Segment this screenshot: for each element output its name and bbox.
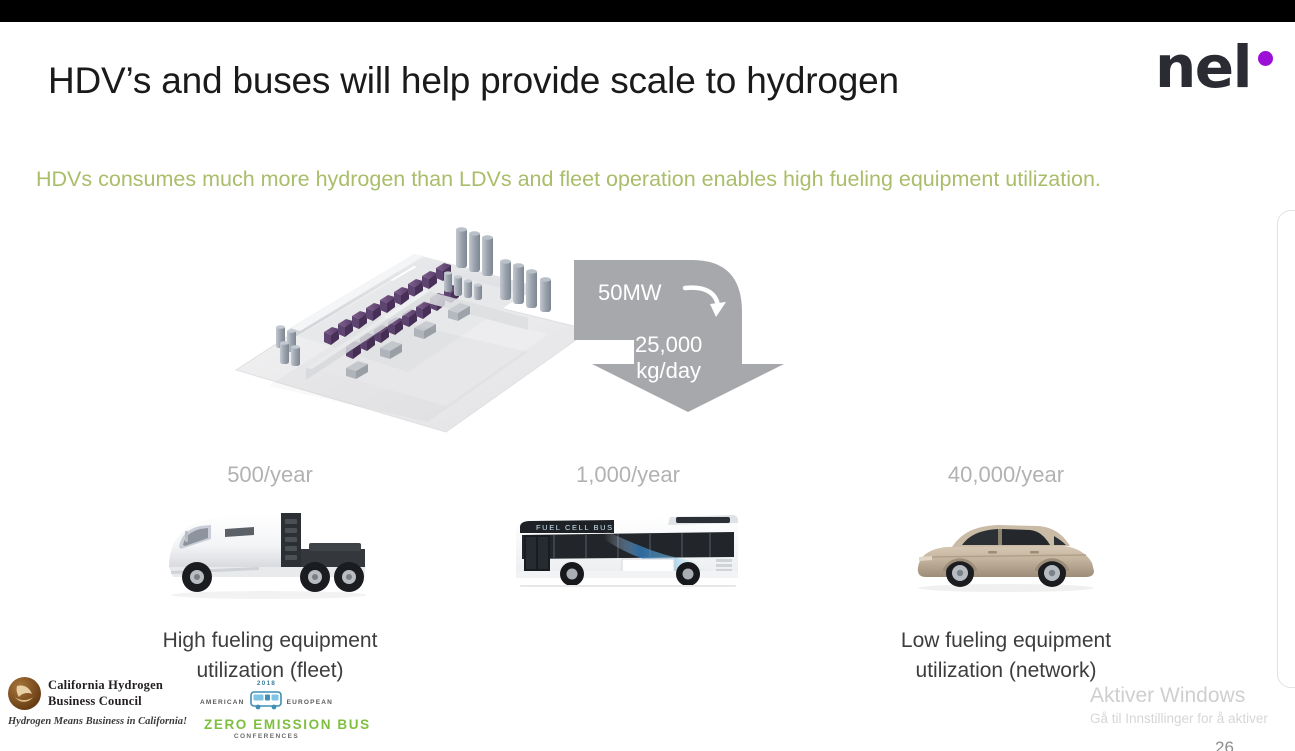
energy-flow-arrow: 50MW 25,000 kg/day (572, 254, 800, 414)
chbc-seal-icon (8, 677, 41, 710)
electrolyser-plant-image (228, 220, 596, 442)
truck-caption-line1: High fueling equipment (163, 629, 378, 652)
slide-canvas: nel HDV’s and buses will help provide sc… (0, 22, 1295, 751)
truck-image (120, 500, 420, 610)
watermark-subtitle: Gå til Innstillinger for å aktiver (1090, 711, 1268, 726)
bus-image: FUEL CELL BUS (478, 500, 778, 610)
zeb-right-word: EUROPEAN (287, 699, 333, 706)
arrow-input-label: 50MW (598, 280, 662, 306)
arrow-output-label: 25,000 kg/day (635, 332, 702, 384)
car-caption-line1: Low fueling equipment (901, 629, 1111, 652)
page-title: HDV’s and buses will help provide scale … (48, 60, 899, 102)
truck-count-label: 500/year (120, 462, 420, 490)
nel-logo: nel (1155, 36, 1273, 98)
arrow-output-line1: 25,000 (635, 332, 702, 357)
presentation-top-bar (0, 0, 1295, 22)
chbc-name-line2: Business Council (48, 694, 142, 708)
slide-number: 26 (1215, 738, 1234, 751)
partner-logos: California Hydrogen Business Council Hyd… (8, 677, 329, 740)
zeb-left-word: AMERICAN (200, 699, 245, 706)
vehicle-column-bus: 1,000/year (478, 462, 778, 626)
vehicle-column-car: 40,000/year (856, 462, 1156, 686)
car-count-label: 40,000/year (856, 462, 1156, 490)
california-hydrogen-business-council-logo: California Hydrogen Business Council Hyd… (8, 677, 186, 727)
zeb-bus-icon (249, 689, 283, 716)
curved-arrow-icon (682, 278, 728, 322)
right-side-panel[interactable] (1277, 210, 1295, 688)
windows-activation-watermark: Aktiver Windows Gå til Innstillinger for… (1090, 685, 1268, 726)
chbc-name-line1: California Hydrogen (48, 678, 163, 692)
nel-dot-icon (1258, 51, 1273, 66)
car-caption-line2: utilization (network) (916, 659, 1097, 682)
nel-wordmark: nel (1155, 38, 1251, 96)
chbc-name: California Hydrogen Business Council (48, 678, 163, 709)
car-image (856, 500, 1156, 610)
zeb-subtitle: CONFERENCES (204, 733, 329, 740)
arrow-output-line2: kg/day (636, 358, 701, 383)
bus-badge-text: FUEL CELL BUS (536, 523, 614, 532)
chbc-tagline: Hydrogen Means Business in California! (8, 716, 186, 727)
car-caption: Low fueling equipment utilization (netwo… (856, 626, 1156, 686)
watermark-title: Aktiver Windows (1090, 685, 1268, 707)
zero-emission-bus-conferences-logo: 2018 AMERICAN EUROPEAN ZERO EMISSION BUS (204, 677, 329, 740)
bus-count-label: 1,000/year (478, 462, 778, 490)
slide-subtitle: HDVs consumes much more hydrogen than LD… (36, 167, 1101, 192)
vehicle-column-truck: 500/year (120, 462, 420, 686)
zeb-title: ZERO EMISSION BUS (204, 718, 329, 732)
zeb-year: 2018 (204, 681, 329, 688)
